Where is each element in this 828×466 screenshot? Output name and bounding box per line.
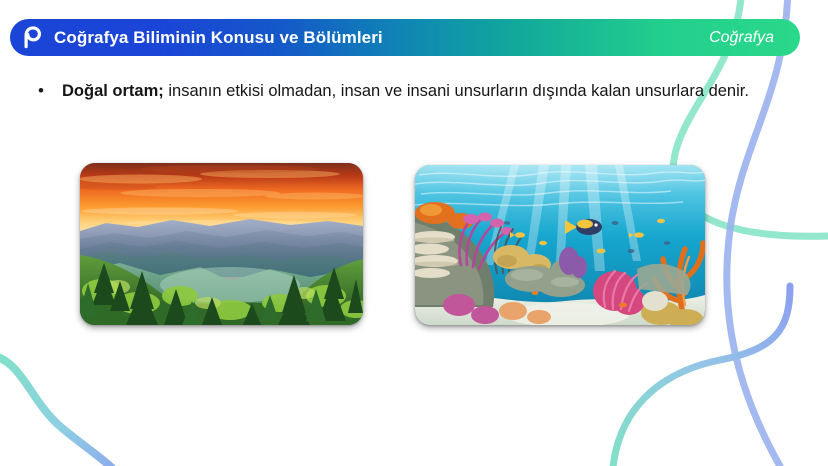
coral-reef-photo — [415, 165, 705, 325]
slide-content: • Doğal ortam; insanın etkisi olmadan, i… — [0, 75, 828, 107]
subject-badge: Coğrafya — [709, 29, 778, 47]
bullet-lead-term: Doğal ortam; — [62, 82, 164, 100]
bullet-rest-text: insanın etkisi olmadan, insan ve insani … — [164, 82, 749, 100]
page-title: Coğrafya Biliminin Konusu ve Bölümleri — [54, 28, 709, 48]
p-brand-logo-icon — [18, 24, 45, 51]
wave-bottom-left — [0, 355, 128, 466]
bullet-marker: • — [38, 75, 62, 107]
bullet-paragraph: Doğal ortam; insanın etkisi olmadan, ins… — [62, 75, 752, 107]
image-row — [0, 163, 828, 328]
header-banner: Coğrafya Biliminin Konusu ve Bölümleri C… — [10, 19, 800, 56]
list-item: • Doğal ortam; insanın etkisi olmadan, i… — [0, 75, 828, 107]
mountain-sunset-photo — [80, 163, 363, 325]
